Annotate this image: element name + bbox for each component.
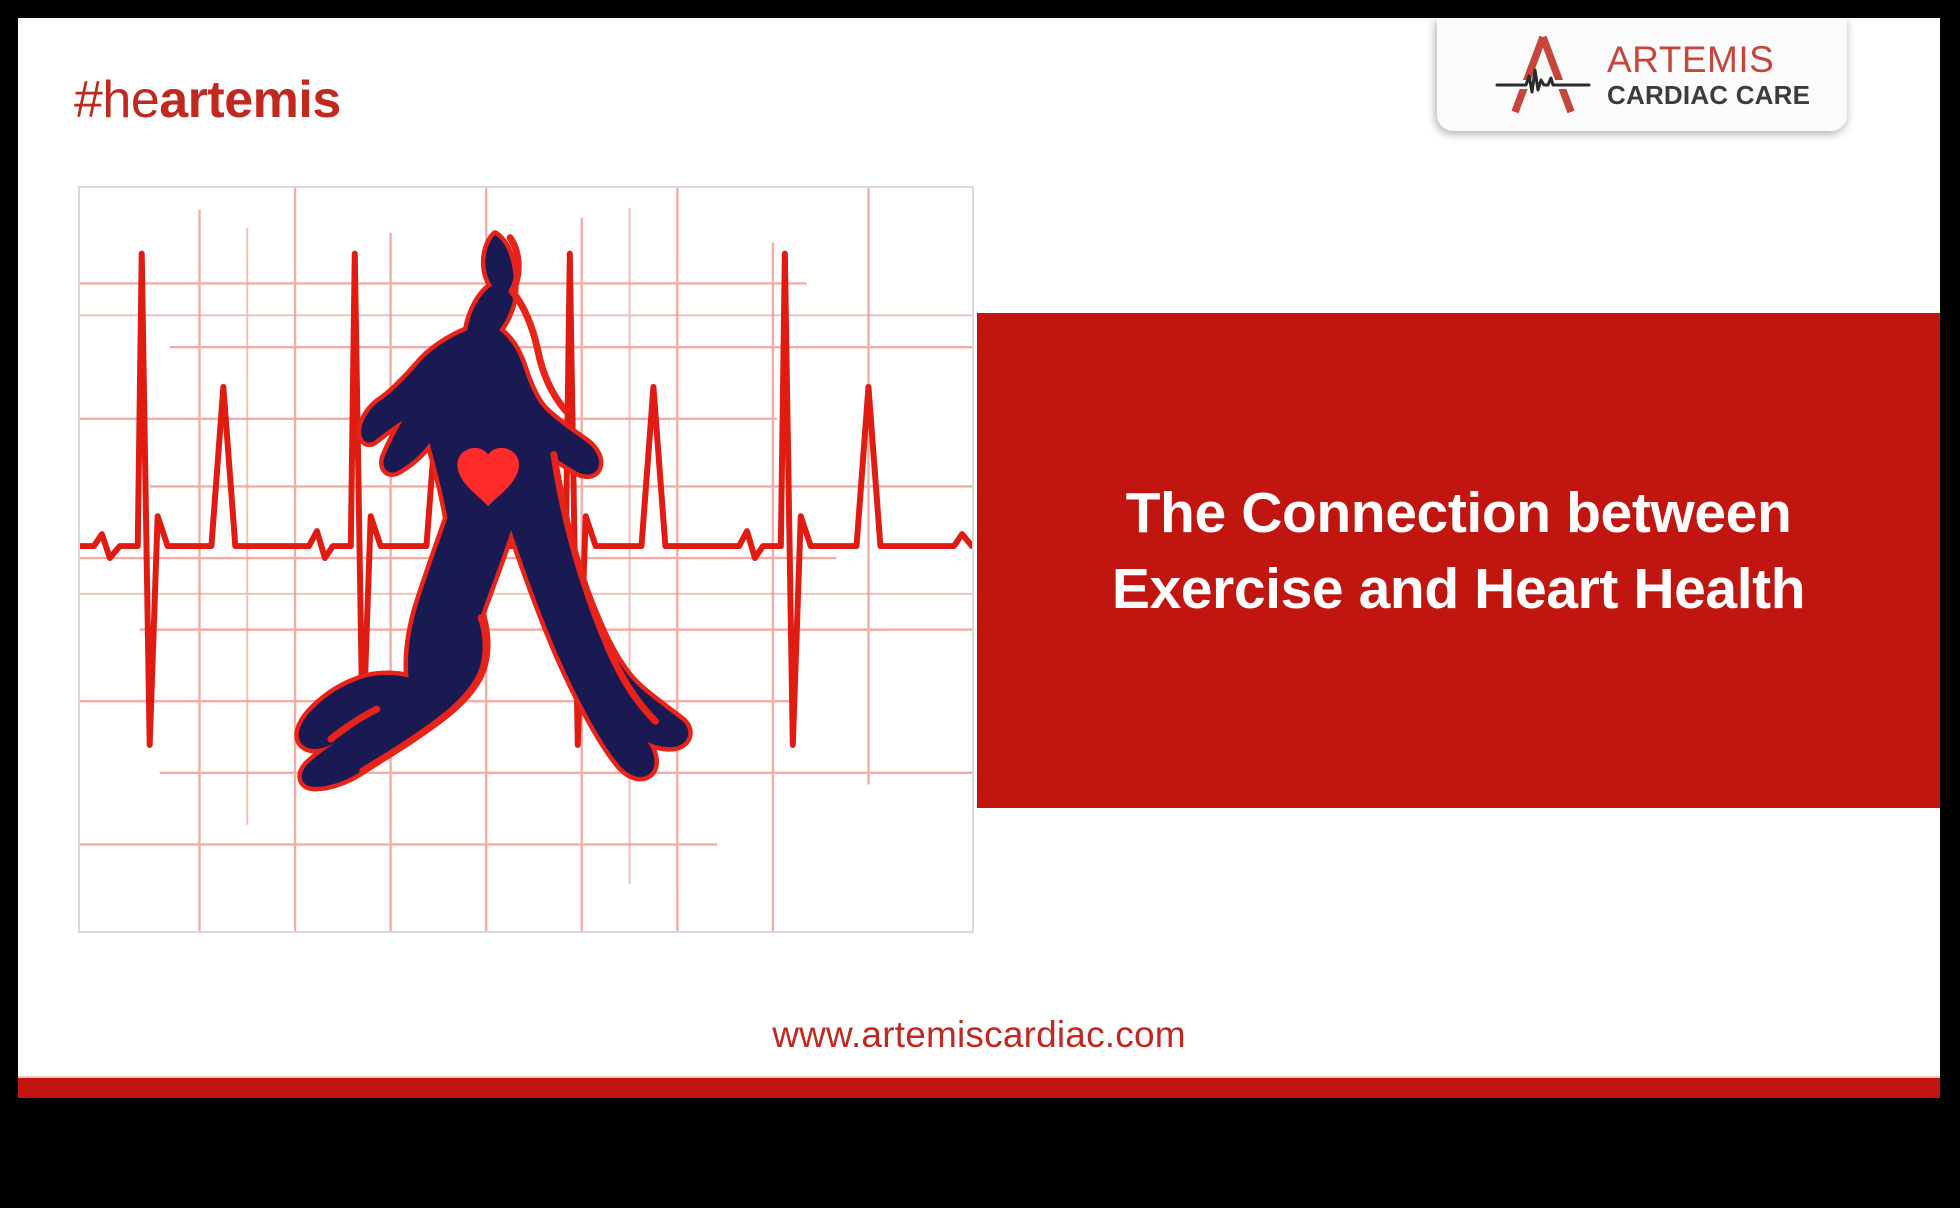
title-line-2: Exercise and Heart Health <box>1112 552 1805 628</box>
hashtag-light-part: #he <box>74 71 159 129</box>
bottom-red-rule <box>18 1076 1940 1098</box>
hashtag-heartemis: #heartemis <box>74 74 341 126</box>
hero-image-frame <box>78 186 974 933</box>
artemis-logo-card[interactable]: ARTEMIS CARDIAC CARE <box>1437 18 1847 131</box>
hashtag-bold-part: artemis <box>159 71 341 129</box>
title-panel: The Connection between Exercise and Hear… <box>977 313 1940 808</box>
title-line-1: The Connection between <box>1126 476 1792 552</box>
website-url[interactable]: www.artemiscardiac.com <box>18 1014 1940 1056</box>
logo-name: ARTEMIS <box>1607 41 1810 78</box>
ecg-runner-illustration <box>80 188 972 931</box>
artemis-a-ecg-mark-icon <box>1495 32 1591 118</box>
logo-tagline: CARDIAC CARE <box>1607 82 1810 108</box>
slide-card: #heartemis ARTEMIS CARDIAC CARE <box>18 18 1940 1098</box>
artemis-logo-wordmark: ARTEMIS CARDIAC CARE <box>1607 41 1810 108</box>
slide-stage: #heartemis ARTEMIS CARDIAC CARE <box>0 0 1960 1208</box>
